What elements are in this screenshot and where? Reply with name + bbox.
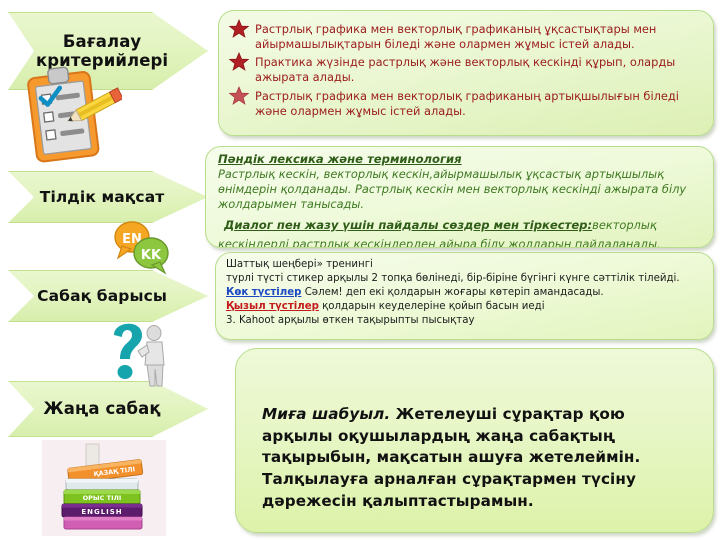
language-objective-box: Пәндік лексика және терминология Растрлы…: [205, 146, 714, 248]
language-heading-vocabulary: Пәндік лексика және терминология: [218, 152, 703, 167]
criteria-item: Практика жүзінде растрлық және векторлық…: [229, 52, 701, 84]
book-label-bottom: ENGLISH: [81, 508, 122, 516]
progress-line-1: Шаттық шеңбері» тренингі: [226, 258, 705, 272]
progress-line-4: Қызыл түстілер қолдарын кеуделеріне қойы…: [226, 300, 705, 314]
en-kk-speech-bubbles-icon: EN KK: [108, 216, 174, 276]
book-label-middle: ОРЫС ТІЛІ: [83, 494, 122, 502]
progress-label-red: Қызыл түстілер: [226, 301, 319, 312]
book-stack-icon: ҚАЗАҚ ТІЛІ ОРЫС ТІЛІ ENGLISH: [42, 440, 166, 536]
criteria-item: Растрлық графика мен векторлық графиканы…: [229, 86, 701, 118]
progress-text-red: қолдарын кеуделеріне қойып басын иеді: [322, 301, 544, 312]
arrow-label-tildik: Тілдік мақсат: [40, 188, 165, 206]
language-dialog-line: Диалог пен жазу үшін пайдалы сөздер мен …: [218, 214, 703, 248]
progress-line-5: 3. Kahoot арқылы өткен тақырыпты пысықта…: [226, 314, 705, 328]
criteria-item-text: Растрлық графика мен векторлық графиканы…: [255, 89, 679, 118]
criteria-item-text: Практика жүзінде растрлық және векторлық…: [255, 55, 675, 84]
progress-line-2: түрлі түсті стикер арқылы 2 топқа бөліне…: [226, 272, 705, 286]
new-lesson-box: Миға шабуыл. Жетелеуші сұрақтар қою арқы…: [235, 348, 714, 533]
language-heading-dialog: Диалог пен жазу үшін пайдалы сөздер мен …: [224, 218, 592, 232]
question-mark-figure-icon: [100, 313, 182, 389]
criteria-item-text: Растрлық графика мен векторлық графиканы…: [255, 22, 656, 51]
lesson-progress-box: Шаттық шеңбері» тренингі түрлі түсті сти…: [215, 252, 714, 340]
progress-line-3: Көк түстілер Сәлем! деп екі қолдарын жоғ…: [226, 286, 705, 300]
progress-text-blue: Сәлем! деп екі қолдарын жоғары көтеріп а…: [305, 287, 604, 298]
arrow-label-zhana: Жаңа сабақ: [43, 399, 160, 418]
arrow-label-sabaq: Сабақ барысы: [37, 287, 167, 305]
arrow-zhana-sabaq[interactable]: Жаңа сабақ: [8, 381, 208, 437]
new-lesson-lead: Миға шабуыл.: [262, 405, 390, 423]
star-icon: [229, 86, 249, 104]
criteria-item: Растрлық графика мен векторлық графиканы…: [229, 19, 701, 51]
slide-canvas: Бағалау критерийлері Тілдік мақсат Сабақ…: [0, 0, 720, 540]
star-icon: [229, 52, 249, 70]
language-body-vocabulary: Растрлық кескін, векторлық кескін,айырма…: [218, 167, 703, 212]
bubble-label-kk: KK: [141, 248, 162, 263]
new-lesson-text: Миға шабуыл. Жетелеуші сұрақтар қою арқы…: [262, 404, 687, 512]
assessment-criteria-box: Растрлық графика мен векторлық графиканы…: [218, 10, 714, 136]
star-icon: [229, 19, 249, 37]
clipboard-checklist-icon: [16, 62, 122, 166]
progress-label-blue: Көк түстілер: [226, 287, 301, 298]
